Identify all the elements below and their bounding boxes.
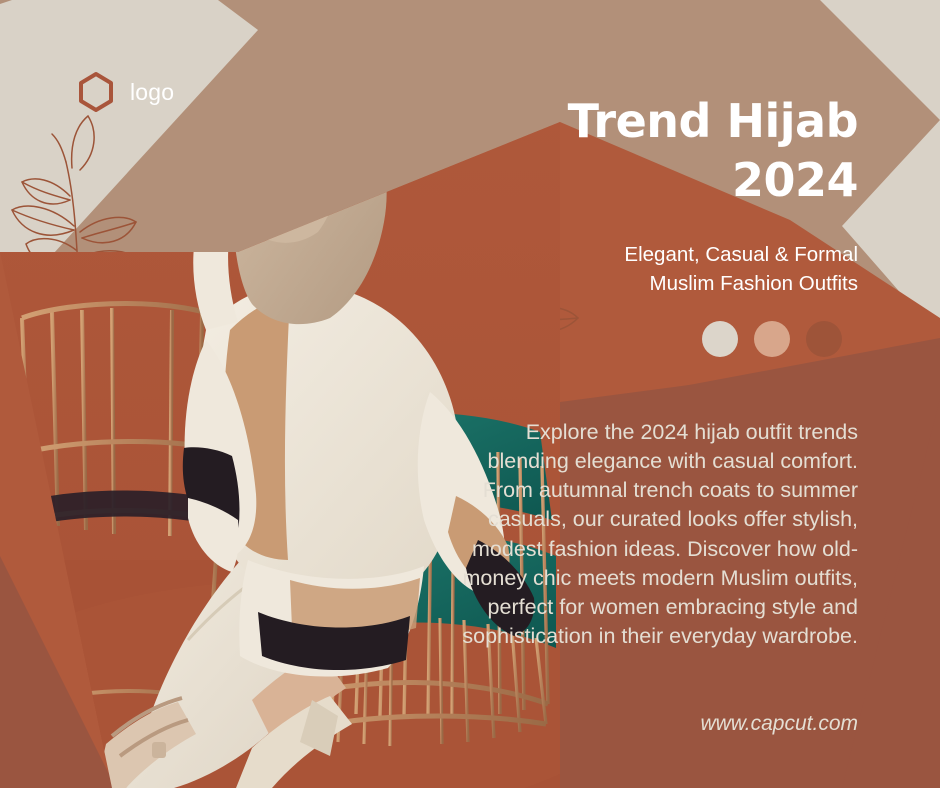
headline-line-1: Trend Hijab [438, 92, 858, 151]
hexagon-outline-icon [74, 70, 118, 114]
swatch-peach[interactable] [754, 321, 790, 357]
body-copy: Explore the 2024 hijab outfit trends ble… [458, 418, 858, 651]
swatch-brick[interactable] [806, 321, 842, 357]
headline-line-2: 2024 [438, 151, 858, 210]
subtitle-line-2: Muslim Fashion Outfits [438, 269, 858, 298]
subtitle-line-1: Elegant, Casual & Formal [438, 240, 858, 269]
swatch-cream[interactable] [702, 321, 738, 357]
brand-logo-label: logo [130, 81, 174, 104]
color-swatch-group [702, 321, 842, 357]
subtitle: Elegant, Casual & Formal Muslim Fashion … [438, 240, 858, 298]
brand-logo[interactable]: logo [74, 70, 174, 114]
poster-canvas: logo Trend Hijab 2024 Elegant, Casual & … [0, 0, 940, 788]
footer-url[interactable]: www.capcut.com [700, 712, 858, 736]
body-paragraph: Explore the 2024 hijab outfit trends ble… [458, 418, 858, 651]
page-title: Trend Hijab 2024 [438, 92, 858, 210]
